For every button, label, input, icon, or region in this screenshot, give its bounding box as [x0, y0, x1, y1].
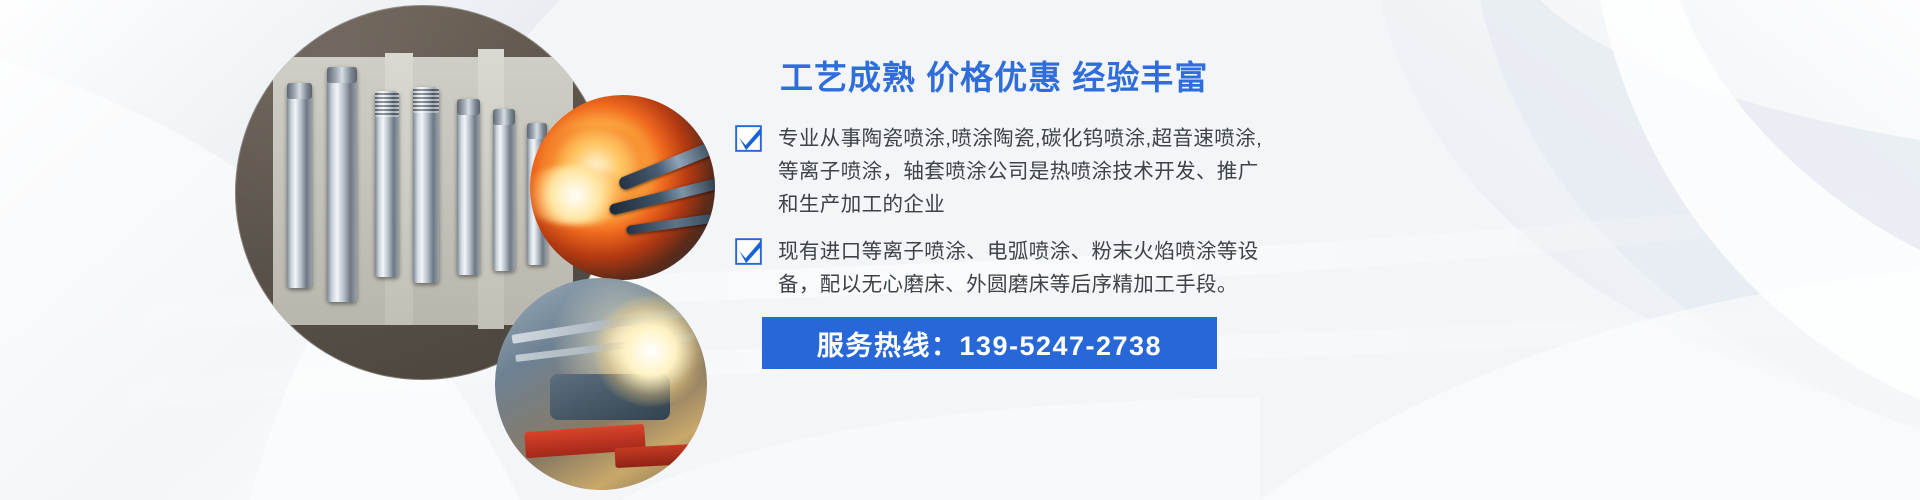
welding-grinding-photo: [495, 278, 707, 490]
bullet-1-line-1: 专业从事陶瓷喷涂,喷涂陶瓷,碳化钨喷涂,超音速喷涂,: [778, 122, 1262, 155]
hotline-label: 服务热线：139-5247-2738: [817, 324, 1162, 363]
check-box-icon: [735, 238, 762, 265]
hotline-bar[interactable]: 服务热线：139-5247-2738: [762, 317, 1217, 369]
check-box-icon: [735, 125, 762, 152]
plasma-spray-photo: [530, 95, 715, 280]
feature-bullet-1-text: 专业从事陶瓷喷涂,喷涂陶瓷,碳化钨喷涂,超音速喷涂, 等离子喷涂，轴套喷涂公司是…: [778, 122, 1262, 221]
photo-cluster: [225, 0, 745, 500]
banner-content: 工艺成熟 价格优惠 经验丰富 专业从事陶瓷喷涂,喷涂陶瓷,碳化钨喷涂,超音速喷涂…: [735, 60, 1495, 369]
feature-bullet-2-text: 现有进口等离子喷涂、电弧喷涂、粉末火焰喷涂等设 备，配以无心磨床、外圆磨床等后序…: [778, 235, 1259, 301]
feature-bullet-2: 现有进口等离子喷涂、电弧喷涂、粉末火焰喷涂等设 备，配以无心磨床、外圆磨床等后序…: [735, 235, 1495, 301]
bullet-2-line-2: 备，配以无心磨床、外圆磨床等后序精加工手段。: [778, 268, 1259, 301]
promo-banner: 工艺成熟 价格优惠 经验丰富 专业从事陶瓷喷涂,喷涂陶瓷,碳化钨喷涂,超音速喷涂…: [0, 0, 1920, 500]
banner-headline: 工艺成熟 价格优惠 经验丰富: [780, 60, 1495, 96]
feature-bullet-1: 专业从事陶瓷喷涂,喷涂陶瓷,碳化钨喷涂,超音速喷涂, 等离子喷涂，轴套喷涂公司是…: [735, 122, 1495, 221]
bullet-1-line-2: 等离子喷涂，轴套喷涂公司是热喷涂技术开发、推广: [778, 155, 1262, 188]
bullet-2-line-1: 现有进口等离子喷涂、电弧喷涂、粉末火焰喷涂等设: [778, 235, 1259, 268]
bullet-1-line-3: 和生产加工的企业: [778, 188, 1262, 221]
